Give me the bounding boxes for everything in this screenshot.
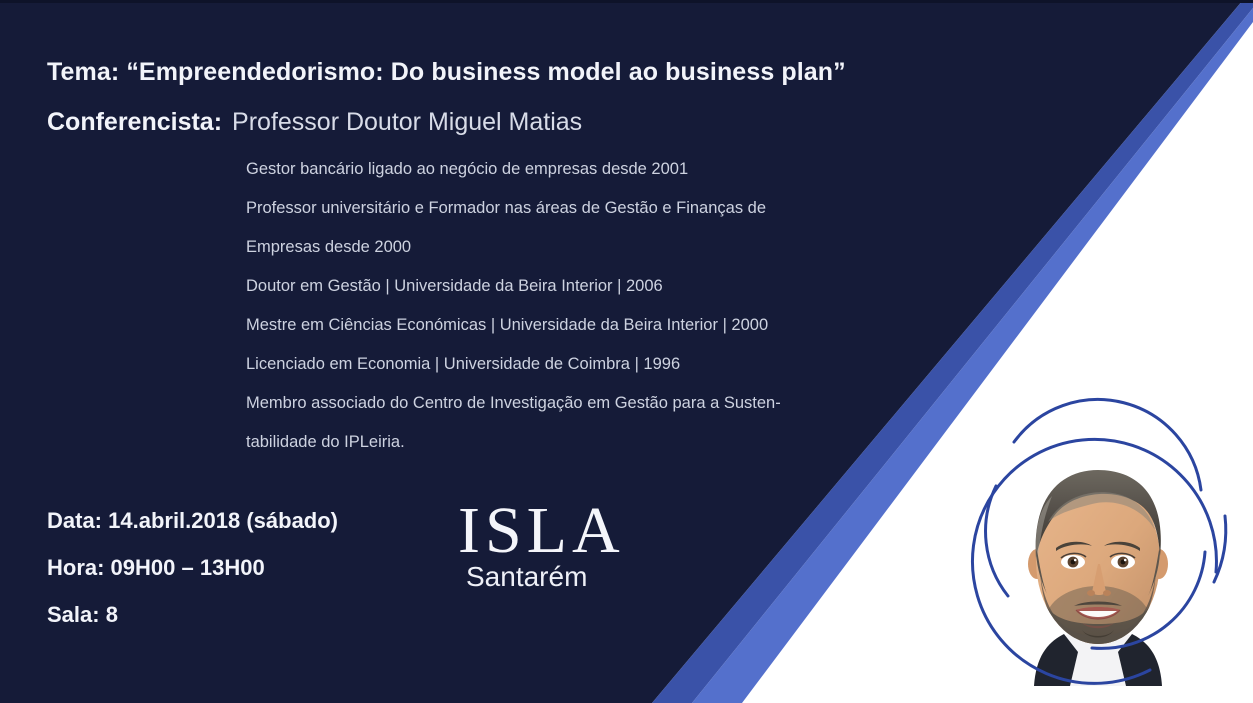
bio-line: Doutor em Gestão | Universidade da Beira… <box>246 267 906 306</box>
isla-logo: ISLA Santarém <box>458 498 625 592</box>
speaker-heading: Conferencista:Professor Doutor Miguel Ma… <box>47 110 582 135</box>
bio-line: Empresas desde 2000 <box>246 228 906 267</box>
poster-content: Tema: “Empreendedorismo: Do business mod… <box>0 0 1253 703</box>
isla-logo-wordmark: ISLA <box>458 498 625 564</box>
bio-line: Professor universitário e Formador nas á… <box>246 189 906 228</box>
event-time: Hora: 09H00 – 13H00 <box>47 544 338 591</box>
bio-line: Membro associado do Centro de Investigaç… <box>246 384 906 423</box>
speaker-bio: Gestor bancário ligado ao negócio de emp… <box>246 150 906 462</box>
bio-line: tabilidade do IPLeiria. <box>246 423 906 462</box>
bio-line: Gestor bancário ligado ao negócio de emp… <box>246 150 906 189</box>
speaker-label: Conferencista: <box>47 108 222 136</box>
event-date: Data: 14.abril.2018 (sábado) <box>47 497 338 544</box>
bio-line: Licenciado em Economia | Universidade de… <box>246 345 906 384</box>
conference-poster: Tema: “Empreendedorismo: Do business mod… <box>0 0 1253 703</box>
bio-line: Mestre em Ciências Económicas | Universi… <box>246 306 906 345</box>
event-room: Sala: 8 <box>47 591 338 638</box>
decorative-ring-arcs <box>952 366 1246 696</box>
speaker-portrait-block <box>952 366 1246 696</box>
speaker-name: Professor Doutor Miguel Matias <box>232 108 582 136</box>
topic-heading: Tema: “Empreendedorismo: Do business mod… <box>47 58 846 87</box>
event-details: Data: 14.abril.2018 (sábado) Hora: 09H00… <box>47 497 338 638</box>
